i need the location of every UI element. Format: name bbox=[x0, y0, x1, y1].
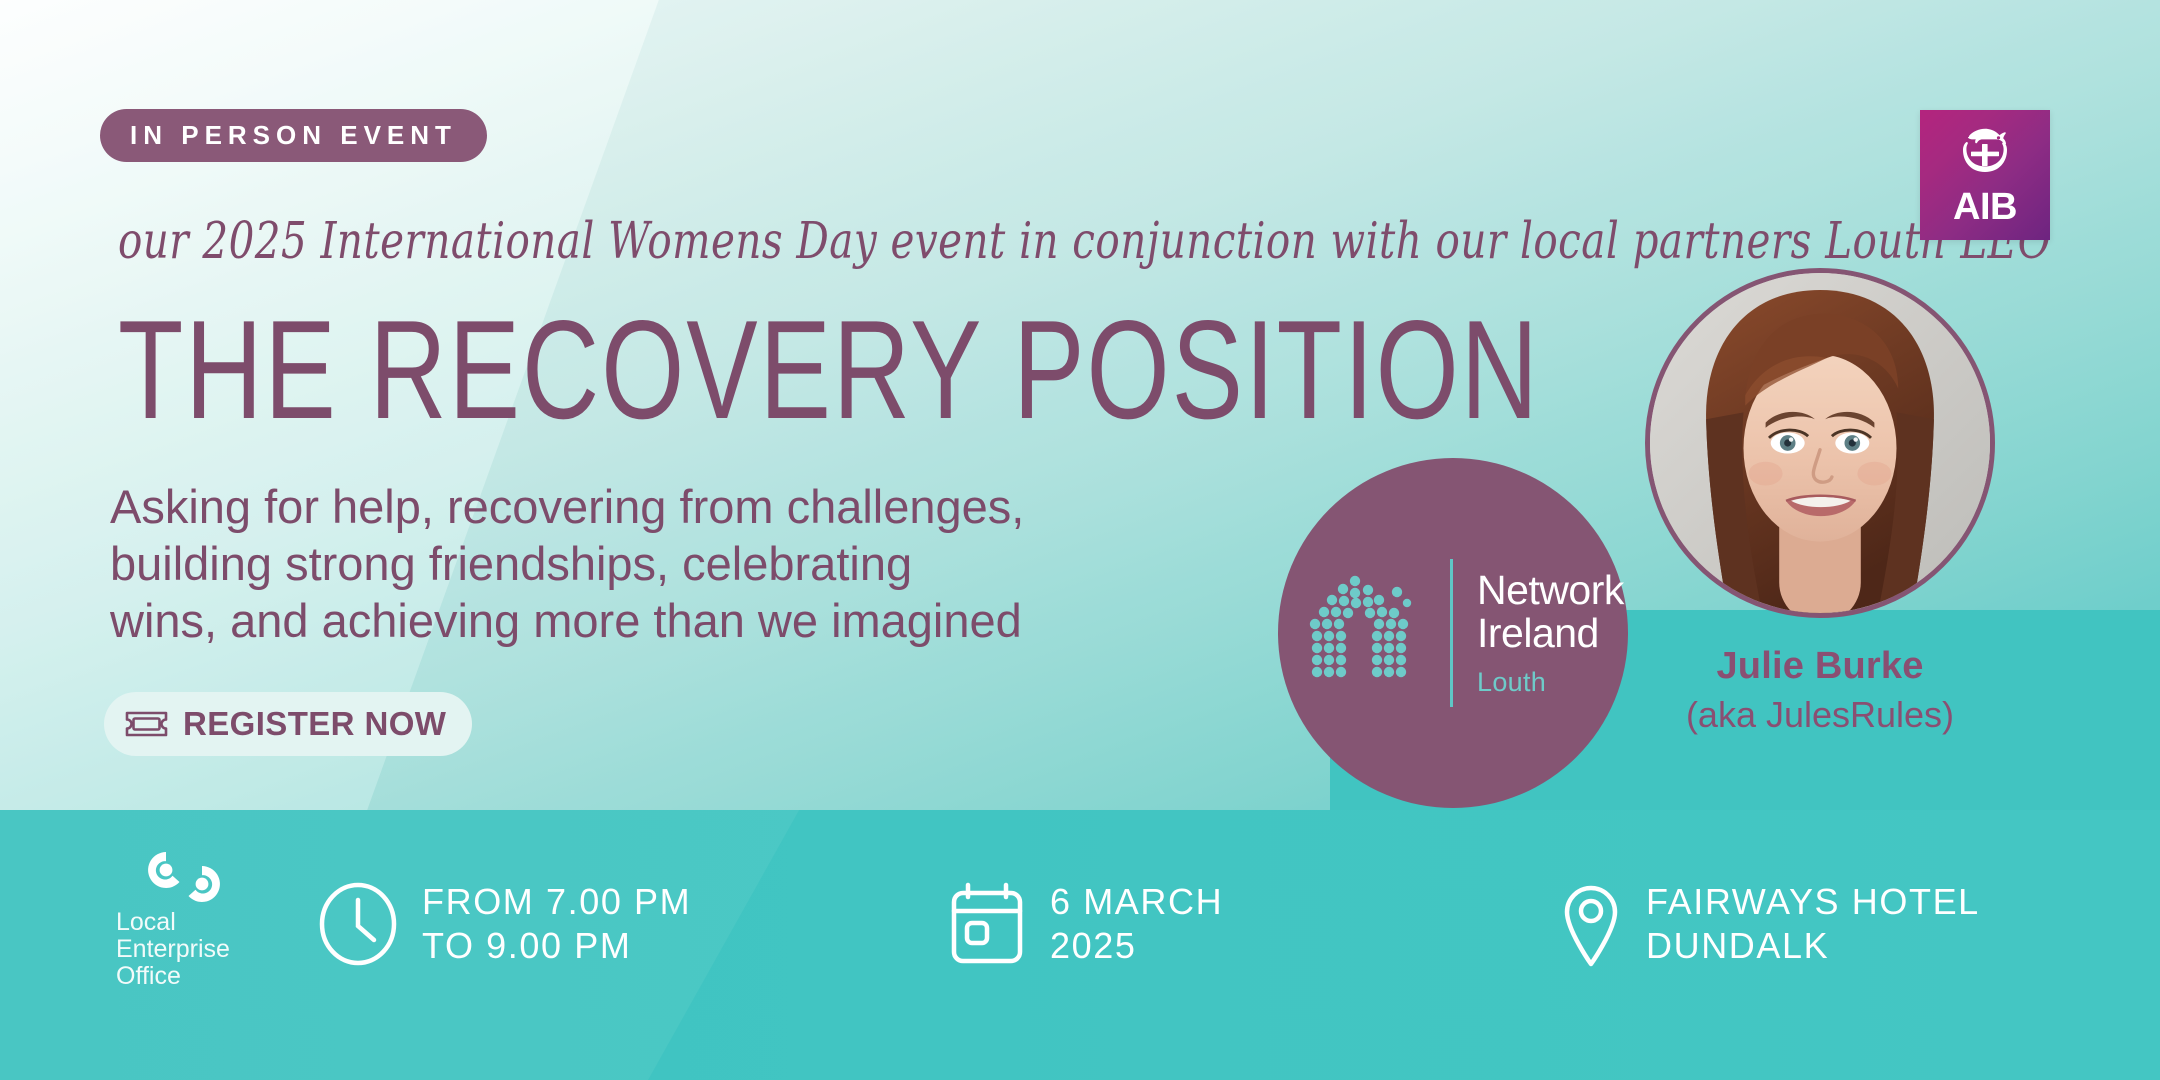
leo-line: Office bbox=[116, 963, 238, 990]
event-date-detail: 6 MARCH 2025 bbox=[948, 880, 1223, 968]
aib-logo: AIB bbox=[1920, 110, 2050, 240]
event-description: Asking for help, recovering from challen… bbox=[110, 478, 1230, 649]
aib-logo-text: AIB bbox=[1953, 188, 2017, 226]
leo-line: Local bbox=[116, 909, 238, 936]
local-enterprise-office-logo: Local Enterprise Office bbox=[116, 848, 238, 990]
event-format-badge-label: IN PERSON EVENT bbox=[130, 120, 457, 151]
location-pin-icon bbox=[1560, 880, 1622, 968]
clock-icon bbox=[318, 881, 398, 967]
event-venue-detail: FAIRWAYS HOTEL DUNDALK bbox=[1560, 880, 1980, 968]
event-description-line: wins, and achieving more than we imagine… bbox=[110, 592, 1230, 649]
logo-divider bbox=[1450, 559, 1453, 707]
event-poster: IN PERSON EVENT our 2025 International W… bbox=[0, 0, 2160, 1080]
event-description-line: Asking for help, recovering from challen… bbox=[110, 478, 1230, 535]
aib-bird-icon bbox=[1949, 124, 2021, 186]
event-tagline: our 2025 International Womens Day event … bbox=[118, 212, 2051, 271]
network-ireland-line1: Network bbox=[1477, 569, 1624, 612]
network-ireland-chapter: Louth bbox=[1477, 667, 1624, 698]
leo-double-c-icon bbox=[116, 848, 238, 904]
register-now-button[interactable]: REGISTER NOW bbox=[104, 692, 472, 756]
event-venue-line2: DUNDALK bbox=[1646, 924, 1980, 968]
leo-line: Enterprise bbox=[116, 936, 238, 963]
event-time-detail: FROM 7.00 PM TO 9.00 PM bbox=[318, 880, 691, 968]
event-date-line1: 6 MARCH bbox=[1050, 880, 1223, 924]
event-description-line: building strong friendships, celebrating bbox=[110, 535, 1230, 592]
page-title: THE RECOVERY POSITION bbox=[118, 288, 1540, 451]
calendar-icon bbox=[948, 881, 1026, 967]
speaker-name: Julie Burke bbox=[1645, 645, 1995, 688]
network-ireland-line2: Ireland bbox=[1477, 612, 1624, 655]
ticket-icon bbox=[124, 709, 169, 739]
speaker-alias: (aka JulesRules) bbox=[1625, 694, 2015, 736]
event-time-line1: FROM 7.00 PM bbox=[422, 880, 691, 924]
network-ireland-logo: Network Ireland Louth bbox=[1278, 458, 1628, 808]
event-date-line2: 2025 bbox=[1050, 924, 1223, 968]
event-time-line2: TO 9.00 PM bbox=[422, 924, 691, 968]
speaker-portrait bbox=[1645, 268, 1995, 618]
leo-wordmark: Local Enterprise Office bbox=[116, 909, 238, 990]
network-ireland-wordmark: Network Ireland Louth bbox=[1477, 569, 1624, 698]
event-venue-line1: FAIRWAYS HOTEL bbox=[1646, 880, 1980, 924]
register-now-label: REGISTER NOW bbox=[183, 705, 446, 743]
event-format-badge: IN PERSON EVENT bbox=[100, 109, 487, 162]
dotted-arch-icon bbox=[1278, 572, 1428, 695]
